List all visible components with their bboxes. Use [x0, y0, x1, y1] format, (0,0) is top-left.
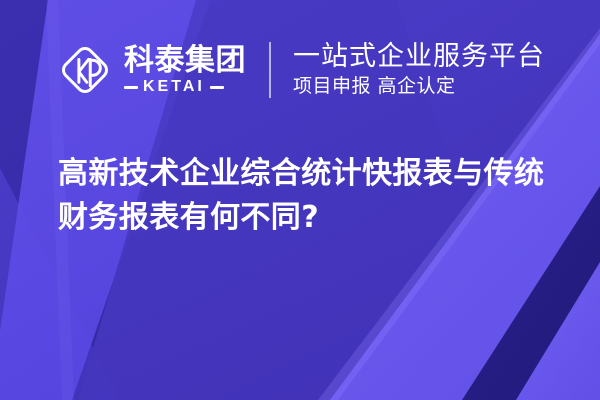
tagline-main-text: 一站式企业服务平台	[293, 43, 545, 71]
header-vertical-divider	[269, 42, 271, 98]
promotional-banner: 科泰集团 KETAI 一站式企业服务平台 项目申报 高企认定 高新技术企业综合统…	[0, 0, 600, 400]
brand-logo[interactable]: 科泰集团 KETAI	[57, 42, 246, 98]
logo-english-row: KETAI	[124, 79, 246, 95]
page-title: 高新技术企业综合统计快报表与传统财务报表有何不同?	[58, 152, 558, 239]
logo-company-name-en: KETAI	[143, 79, 205, 95]
tagline-sub-text: 项目申报 高企认定	[293, 77, 545, 97]
logo-wordmark: 科泰集团 KETAI	[124, 46, 246, 95]
header-tagline: 一站式企业服务平台 项目申报 高企认定	[293, 43, 545, 96]
dash-icon	[124, 86, 138, 89]
banner-header: 科泰集团 KETAI 一站式企业服务平台 项目申报 高企认定	[0, 0, 600, 140]
ketai-diamond-monogram-icon	[57, 42, 113, 98]
dash-icon	[210, 86, 224, 89]
logo-company-name-cn: 科泰集团	[124, 46, 246, 76]
